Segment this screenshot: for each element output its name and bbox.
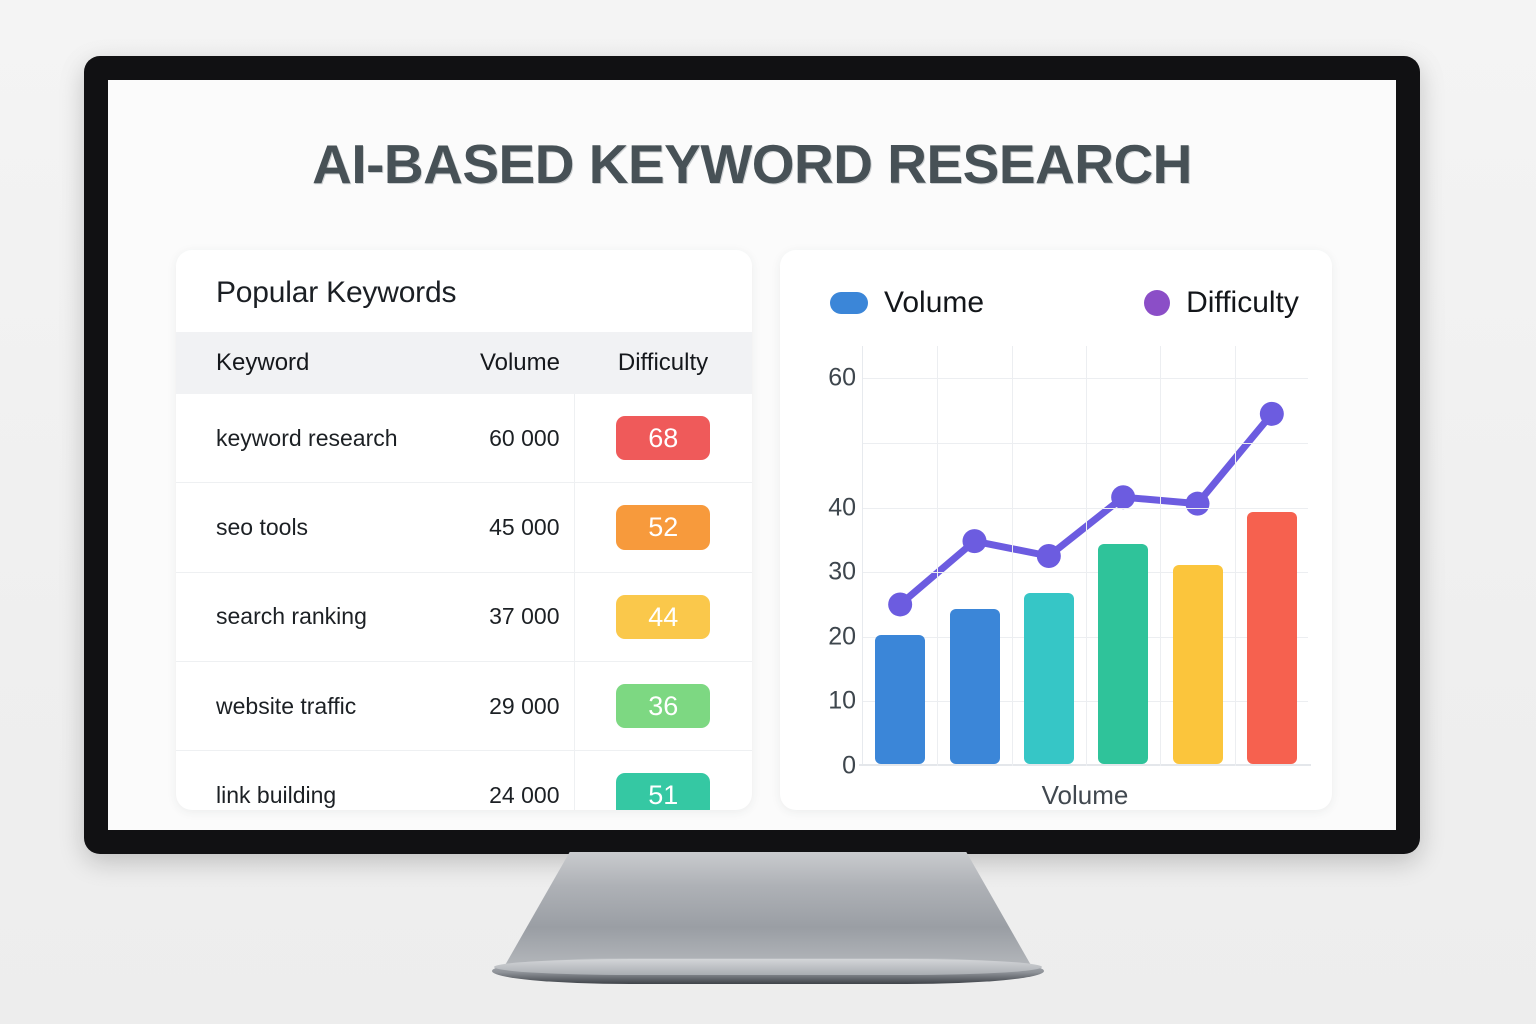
cell-difficulty: 68 (574, 394, 752, 483)
cell-keyword: link building (176, 751, 424, 810)
cell-keyword: keyword research (176, 394, 424, 483)
difficulty-badge: 44 (616, 595, 710, 639)
difficulty-point-marker[interactable] (1037, 544, 1061, 568)
cell-keyword: website traffic (176, 662, 424, 751)
table-row[interactable]: search ranking37 00044 (176, 572, 752, 661)
chart-y-axis: 60403020100 (804, 346, 856, 766)
chart-bar[interactable] (1247, 512, 1297, 764)
chart-plot-area[interactable] (862, 346, 1308, 766)
cell-volume: 45 000 (424, 483, 574, 572)
cell-keyword: seo tools (176, 483, 424, 572)
keyword-chart-card: Volume Difficulty 60403020100 (780, 250, 1332, 810)
cell-difficulty: 44 (574, 572, 752, 661)
chart-bar[interactable] (1024, 593, 1074, 764)
y-axis-tick-label: 10 (828, 687, 856, 716)
chart-bar[interactable] (1173, 565, 1223, 764)
difficulty-point-marker[interactable] (963, 529, 987, 553)
difficulty-badge: 52 (616, 505, 710, 549)
chart-vertical-gridline (1160, 346, 1161, 766)
chart-vertical-gridline (937, 346, 938, 766)
chart-vertical-gridline (1235, 346, 1236, 766)
chart-bar[interactable] (875, 635, 925, 764)
keywords-table-body: keyword research60 00068seo tools45 0005… (176, 394, 752, 810)
difficulty-point-marker[interactable] (1260, 402, 1284, 426)
monitor-stand-neck (500, 852, 1036, 974)
legend-dot-swatch-icon (1144, 290, 1170, 316)
difficulty-point-marker[interactable] (888, 592, 912, 616)
dashboard-cards: Popular Keywords Keyword Volume Difficul… (176, 250, 1332, 810)
table-row[interactable]: seo tools45 00052 (176, 483, 752, 572)
monitor-stand-base (492, 958, 1044, 984)
keywords-table: Keyword Volume Difficulty keyword resear… (176, 332, 752, 810)
chart-bar[interactable] (950, 609, 1000, 764)
table-header-row: Keyword Volume Difficulty (176, 332, 752, 394)
legend-bar-swatch-icon (830, 292, 868, 314)
cell-difficulty: 52 (574, 483, 752, 572)
chart-legend: Volume Difficulty (804, 280, 1308, 320)
cell-difficulty: 51 (574, 751, 752, 810)
difficulty-point-marker[interactable] (1186, 492, 1210, 516)
table-row[interactable]: link building24 00051 (176, 751, 752, 810)
cell-volume: 24 000 (424, 751, 574, 810)
column-header-volume[interactable]: Volume (424, 332, 574, 394)
page-title: AI-BASED KEYWORD RESEARCH (108, 132, 1396, 196)
y-axis-tick-label: 30 (828, 558, 856, 587)
cell-volume: 29 000 (424, 662, 574, 751)
legend-item-difficulty[interactable]: Difficulty (1144, 286, 1299, 320)
monitor-screen: AI-BASED KEYWORD RESEARCH Popular Keywor… (108, 80, 1396, 830)
popular-keywords-card: Popular Keywords Keyword Volume Difficul… (176, 250, 752, 810)
y-axis-tick-label: 60 (828, 364, 856, 393)
y-axis-tick-label: 0 (842, 752, 856, 781)
chart-plot-wrapper: 60403020100 Volume (804, 346, 1308, 766)
monitor-frame: AI-BASED KEYWORD RESEARCH Popular Keywor… (84, 56, 1420, 854)
chart-vertical-gridline (1012, 346, 1013, 766)
difficulty-badge: 51 (616, 773, 710, 810)
chart-vertical-gridline (1086, 346, 1087, 766)
chart-x-axis-label: Volume (862, 780, 1308, 811)
y-axis-tick-label: 40 (828, 493, 856, 522)
cell-keyword: search ranking (176, 572, 424, 661)
difficulty-badge: 36 (616, 684, 710, 728)
keywords-table-head: Keyword Volume Difficulty (176, 332, 752, 394)
cell-volume: 37 000 (424, 572, 574, 661)
scene: AI-BASED KEYWORD RESEARCH Popular Keywor… (0, 0, 1536, 1024)
chart-bar[interactable] (1098, 544, 1148, 764)
column-header-keyword[interactable]: Keyword (176, 332, 424, 394)
table-row[interactable]: website traffic29 00036 (176, 662, 752, 751)
difficulty-point-marker[interactable] (1111, 485, 1135, 509)
legend-item-volume[interactable]: Volume (830, 286, 984, 320)
legend-label-difficulty: Difficulty (1186, 286, 1299, 320)
cell-difficulty: 36 (574, 662, 752, 751)
popular-keywords-title: Popular Keywords (176, 276, 752, 332)
column-header-difficulty[interactable]: Difficulty (574, 332, 752, 394)
y-axis-tick-label: 20 (828, 622, 856, 651)
legend-label-volume: Volume (884, 286, 984, 320)
cell-volume: 60 000 (424, 394, 574, 483)
table-row[interactable]: keyword research60 00068 (176, 394, 752, 483)
difficulty-badge: 68 (616, 416, 710, 460)
